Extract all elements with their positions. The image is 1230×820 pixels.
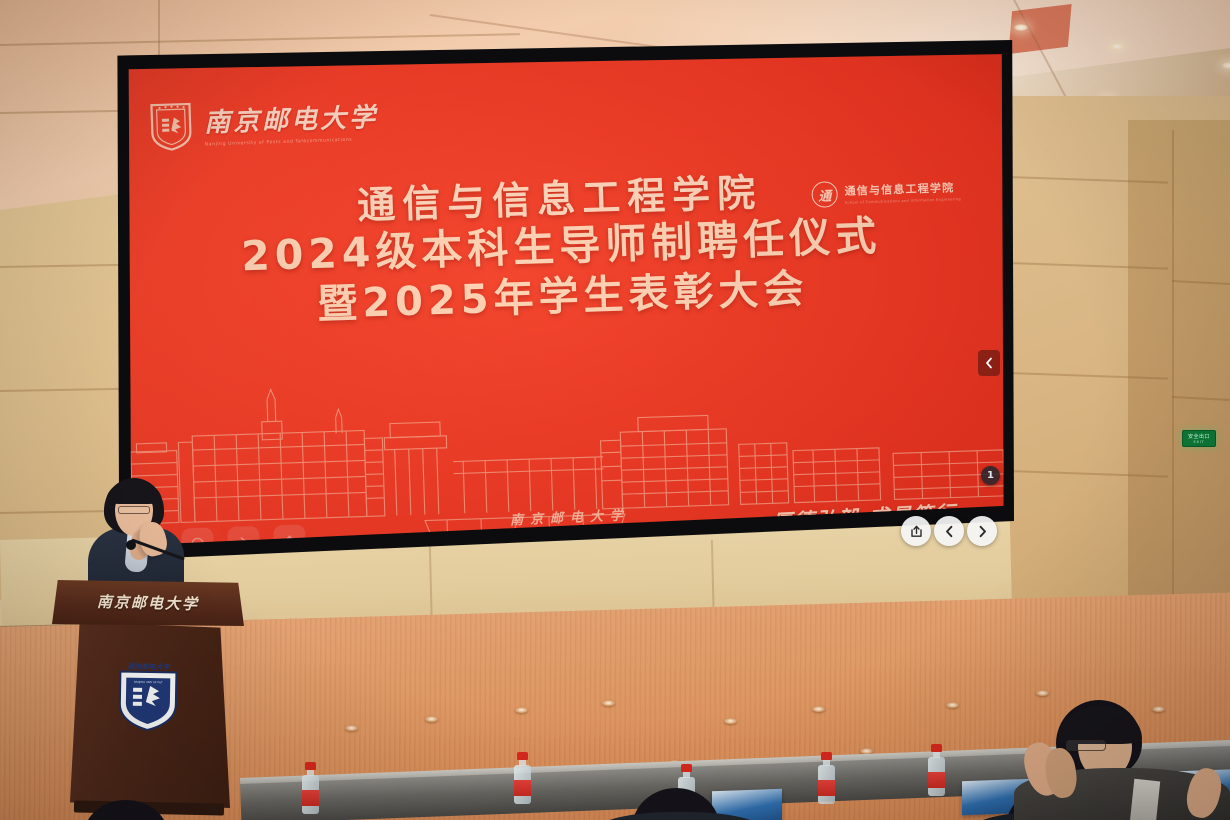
prev-slide-button[interactable]: [934, 516, 964, 546]
floor-socket: [425, 716, 438, 722]
svg-text:NANJING UNIV OF P&T: NANJING UNIV OF P&T: [134, 680, 163, 685]
bottle-neck: [823, 759, 830, 766]
event-headline: 通信与信息工程学院 2024级本科生导师制聘任仪式 暨2025年学生表彰大会: [118, 164, 1008, 334]
screenshot-root: 安全出口 EXIT: [0, 0, 1230, 820]
speaker-fringe: [106, 480, 162, 504]
floor-socket: [345, 725, 358, 731]
floor-socket: [602, 700, 615, 706]
bottle-label: [928, 772, 945, 788]
svg-text:南京邮电大学: 南京邮电大学: [127, 662, 170, 672]
bottle-label: [302, 790, 319, 806]
led-screen: 南京邮电大学 Nanjing University of Posts and T…: [118, 48, 1008, 554]
bottle-label: [514, 780, 531, 796]
page-indicator-badge[interactable]: 1: [981, 466, 1000, 485]
bottle-neck: [683, 771, 690, 778]
floor-socket: [946, 702, 959, 708]
speaker-glasses: [118, 506, 150, 514]
bottle-neck: [933, 751, 940, 758]
next-slide-button[interactable]: [967, 516, 997, 546]
floor-socket: [724, 718, 737, 724]
university-name-cn: 南京邮电大学: [203, 96, 378, 139]
ceiling-downlight: [1014, 24, 1028, 31]
floor-socket: [1152, 706, 1165, 712]
bottle-cap: [821, 752, 832, 760]
exit-sign-en: EXIT: [1194, 440, 1205, 444]
podium: 南京邮电大学 南京邮电大学 NANJING UNIV OF P&T: [52, 580, 244, 820]
bottle-cap: [931, 744, 942, 752]
bottle-neck: [519, 759, 526, 766]
podium-university-name: 南京邮电大学: [97, 591, 199, 614]
exit-sign-cn: 安全出口: [1188, 433, 1210, 440]
bottle-cap: [681, 764, 692, 772]
floor-socket: [1036, 690, 1049, 696]
audience-shirt-collar: [1130, 779, 1160, 820]
podium-njupt-shield-icon: 南京邮电大学 NANJING UNIV OF P&T: [115, 657, 180, 734]
water-bottle: [928, 744, 945, 796]
ceiling-downlight: [1222, 62, 1230, 69]
floor-socket: [515, 707, 528, 713]
njupt-shield-icon: [147, 98, 195, 153]
water-bottle: [818, 752, 835, 804]
floor-socket: [812, 706, 825, 712]
bottle-cap: [517, 752, 528, 760]
chevron-left-icon: [984, 357, 994, 369]
bottle-cap: [305, 762, 316, 770]
ceiling-downlight: [1110, 43, 1124, 50]
chevron-right-icon: [975, 524, 990, 539]
share-button[interactable]: [901, 516, 931, 546]
audience-glasses: [1066, 740, 1106, 751]
university-brand: 南京邮电大学 Nanjing University of Posts and T…: [147, 92, 379, 153]
water-bottle: [302, 762, 319, 814]
share-icon: [909, 524, 924, 539]
bottle-label: [818, 780, 835, 796]
bottle-neck: [307, 769, 314, 776]
chevron-left-icon: [942, 524, 957, 539]
collapse-panel-button[interactable]: [978, 350, 1000, 376]
water-bottle: [514, 752, 531, 804]
exit-sign: 安全出口 EXIT: [1182, 430, 1216, 447]
